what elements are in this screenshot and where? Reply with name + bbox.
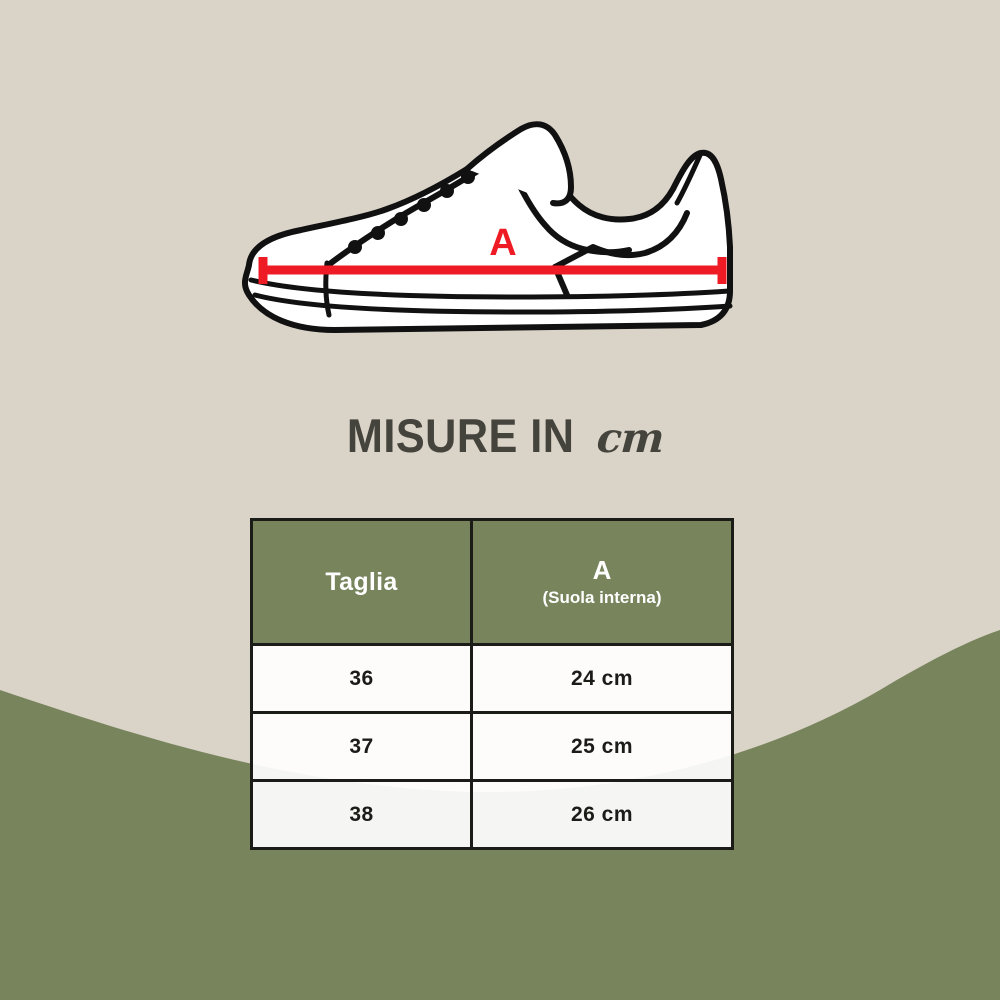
- measure-label-a: A: [489, 222, 516, 264]
- table-row: 36 24 cm: [252, 645, 733, 713]
- cell-size: 36: [252, 645, 472, 713]
- cell-size: 37: [252, 713, 472, 781]
- cell-a: 24 cm: [472, 645, 733, 713]
- header-cell-size: Taglia: [252, 520, 472, 645]
- page-title: MISURE INcm: [0, 408, 1000, 463]
- cell-a: 25 cm: [472, 713, 733, 781]
- header-a-sublabel: (Suola interna): [473, 588, 731, 608]
- table-header-row: Taglia A (Suola interna): [252, 520, 733, 645]
- title-script-text: cm: [595, 414, 665, 462]
- table-row: 38 26 cm: [252, 781, 733, 849]
- cell-size: 38: [252, 781, 472, 849]
- size-chart-page: A MISURE INcm Taglia A (Suola interna) 3…: [0, 0, 1000, 1000]
- sneaker-illustration: A: [215, 95, 775, 350]
- sneaker-svg: A: [215, 95, 775, 350]
- table-row: 37 25 cm: [252, 713, 733, 781]
- header-size-label: Taglia: [253, 568, 470, 597]
- size-chart-table: Taglia A (Suola interna) 36 24 cm 37 25 …: [250, 518, 734, 850]
- title-main-text: MISURE IN: [347, 408, 575, 463]
- cell-a: 26 cm: [472, 781, 733, 849]
- header-a-label: A: [473, 556, 731, 585]
- header-cell-a: A (Suola interna): [472, 520, 733, 645]
